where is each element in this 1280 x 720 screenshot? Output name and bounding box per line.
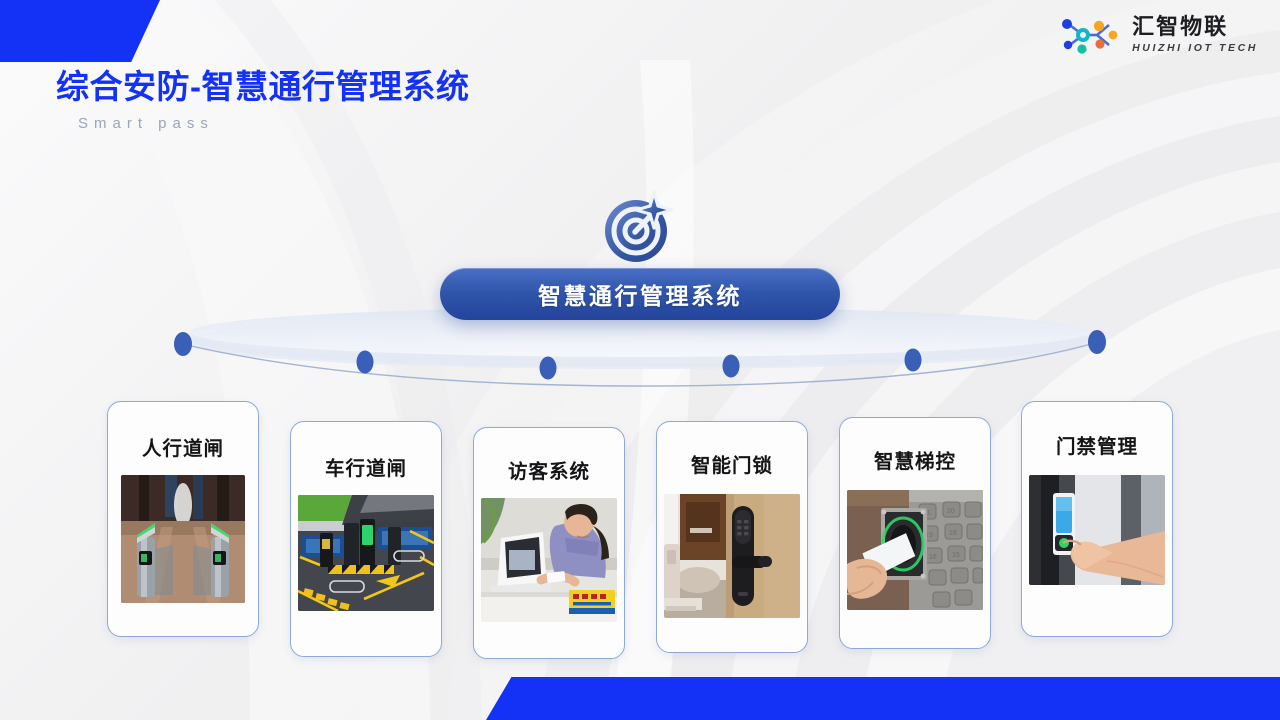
card-title: 车行道闸 xyxy=(325,452,407,481)
card-title: 门禁管理 xyxy=(1056,430,1138,459)
svg-text:20: 20 xyxy=(947,508,955,515)
feature-card-access-control[interactable]: 门禁管理 xyxy=(1021,401,1173,637)
card-title: 智能门锁 xyxy=(691,449,773,478)
feature-card-smart-lock[interactable]: 智能门锁 xyxy=(656,421,808,653)
vehicle-barrier-gate-photo xyxy=(298,495,434,611)
target-dart-icon xyxy=(596,186,686,266)
rail-node xyxy=(723,355,740,378)
visitor-reception-desk-photo xyxy=(481,498,617,622)
logo-text-en: HUIZHI IOT TECH xyxy=(1132,43,1258,54)
pedestrian-turnstile-photo xyxy=(121,475,245,603)
hub-badge-label: 智慧通行管理系统 xyxy=(538,277,742,311)
feature-card-elevator-control[interactable]: 智慧梯控 xyxy=(839,417,991,649)
card-title: 智慧梯控 xyxy=(874,445,956,474)
page-title: 综合安防-智慧通行管理系统 xyxy=(56,68,470,106)
smart-door-lock-photo xyxy=(664,494,800,618)
card-title: 访客系统 xyxy=(508,455,590,484)
molecule-network-icon xyxy=(1059,14,1123,56)
rail-node xyxy=(174,332,192,356)
svg-text:16: 16 xyxy=(929,554,937,561)
access-control-fingerprint-photo xyxy=(1029,475,1165,585)
svg-text:15: 15 xyxy=(952,552,960,559)
card-title: 人行道闸 xyxy=(142,432,224,461)
rail-node xyxy=(357,351,374,374)
hub-badge[interactable]: 智慧通行管理系统 xyxy=(440,268,840,320)
corner-accent-bottom-right xyxy=(486,677,1280,720)
feature-card-pedestrian-gate[interactable]: 人行道闸 xyxy=(107,401,259,637)
rail-node xyxy=(540,357,557,380)
rail-node xyxy=(1088,330,1106,354)
feature-card-visitor-system[interactable]: 访客系统 xyxy=(473,427,625,659)
header-block: 综合安防-智慧通行管理系统 Smart pass xyxy=(56,68,470,132)
slide-canvas: 综合安防-智慧通行管理系统 Smart pass 汇智物联 HUIZHI IOT… xyxy=(0,0,1280,720)
logo-text-cn: 汇智物联 xyxy=(1132,16,1258,38)
feature-card-vehicle-gate[interactable]: 车行道闸 xyxy=(290,421,442,657)
rail-node xyxy=(905,349,922,372)
brand-logo: 汇智物联 HUIZHI IOT TECH xyxy=(1059,14,1258,56)
page-subtitle: Smart pass xyxy=(78,115,470,132)
svg-text:18: 18 xyxy=(949,530,957,537)
elevator-card-reader-photo: 2120 1918 1615 xyxy=(847,490,983,610)
